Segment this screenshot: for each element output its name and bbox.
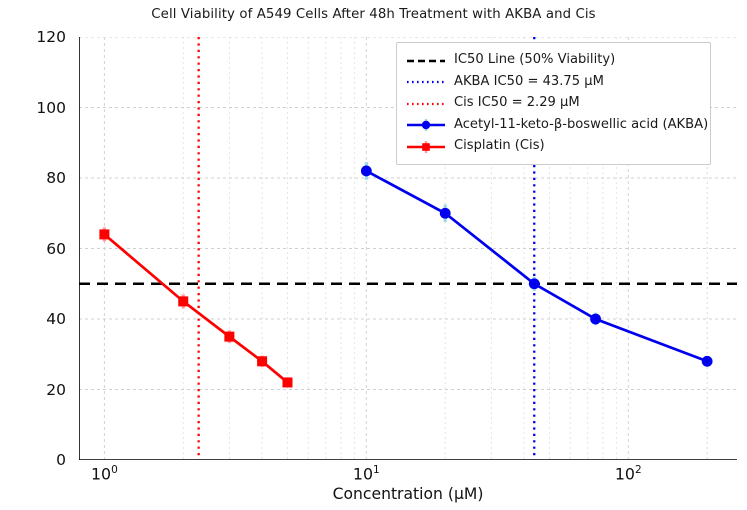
- list-item[interactable]: IC50 Line (50% Viability): [406, 49, 702, 71]
- y-tick-label: 120: [2, 28, 66, 46]
- y-tick-label: 0: [2, 451, 66, 469]
- red-square-marker-key: [406, 139, 446, 153]
- list-item[interactable]: Cis IC50 = 2.29 µM: [406, 92, 702, 114]
- legend-label: Cis IC50 = 2.29 µM: [454, 95, 580, 110]
- data-point[interactable]: [178, 296, 188, 306]
- data-point[interactable]: [590, 314, 601, 325]
- legend-label: IC50 Line (50% Viability): [454, 52, 615, 67]
- x-tick-label: 100: [91, 464, 118, 483]
- y-tick-label: 40: [2, 310, 66, 328]
- dashed-black-line-key: [406, 53, 446, 67]
- dotted-blue-line-key: [406, 74, 446, 88]
- y-tick-label: 100: [2, 99, 66, 117]
- data-point[interactable]: [99, 229, 109, 239]
- legend-label: Cisplatin (Cis): [454, 138, 545, 153]
- data-point[interactable]: [702, 356, 713, 367]
- legend-box: IC50 Line (50% Viability) AKBA IC50 = 43…: [396, 42, 711, 165]
- y-tick-label: 80: [2, 169, 66, 187]
- y-tick-label: 60: [2, 240, 66, 258]
- x-tick-label: 102: [615, 464, 642, 483]
- list-item[interactable]: AKBA IC50 = 43.75 µM: [406, 71, 702, 93]
- data-point[interactable]: [282, 377, 292, 387]
- figure-canvas: Cell Viability of A549 Cells After 48h T…: [0, 0, 747, 510]
- legend-label: Acetyl-11-keto-β-boswellic acid (AKBA): [454, 117, 708, 132]
- blue-circle-marker-key: [406, 117, 446, 131]
- series-line: [366, 171, 707, 361]
- x-tick-label: 101: [353, 464, 380, 483]
- list-item[interactable]: Cisplatin (Cis): [406, 135, 702, 157]
- list-item[interactable]: Acetyl-11-keto-β-boswellic acid (AKBA): [406, 114, 702, 136]
- data-point[interactable]: [361, 166, 372, 177]
- data-point[interactable]: [257, 356, 267, 366]
- y-tick-label: 20: [2, 381, 66, 399]
- data-point[interactable]: [440, 208, 451, 219]
- dotted-red-line-key: [406, 96, 446, 110]
- data-point[interactable]: [224, 332, 234, 342]
- data-point[interactable]: [529, 278, 540, 289]
- legend-label: AKBA IC50 = 43.75 µM: [454, 74, 604, 89]
